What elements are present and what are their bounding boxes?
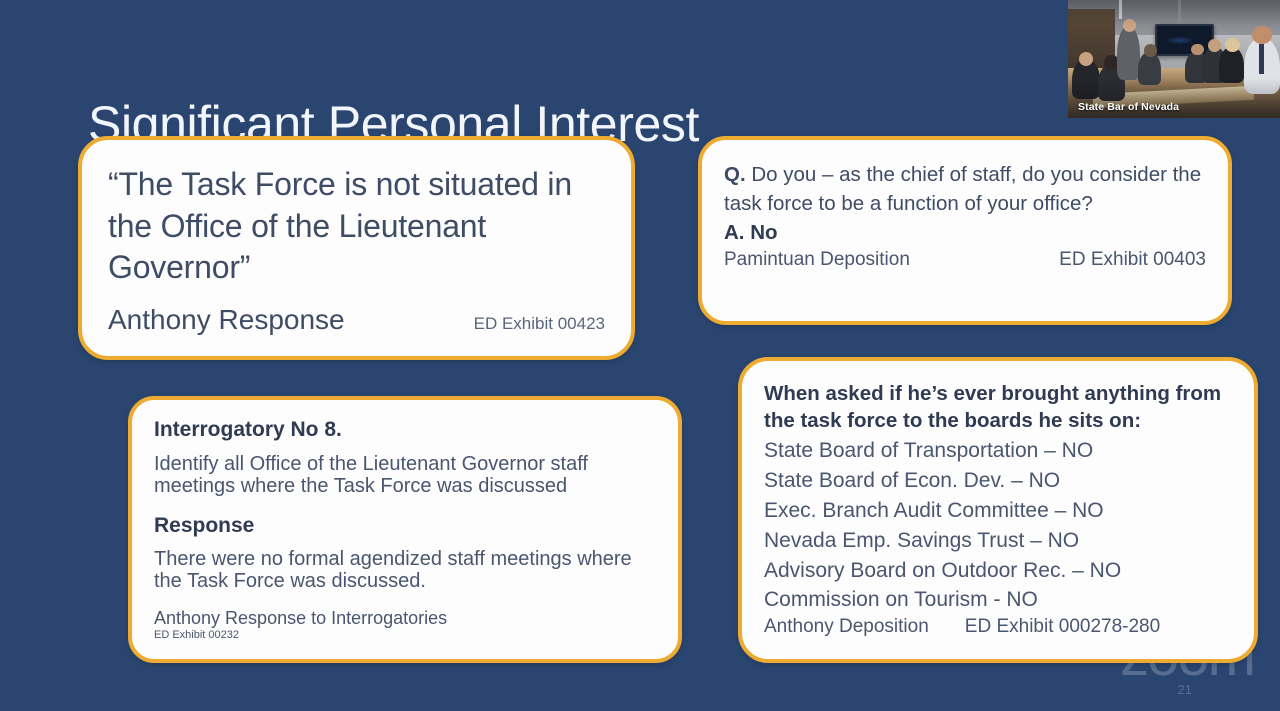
slide-page-number: 21 — [1178, 682, 1192, 697]
boards-card: When asked if he’s ever brought anything… — [738, 357, 1258, 663]
boards-source: Anthony Deposition — [764, 616, 929, 638]
boards-exhibit-ref: ED Exhibit 000278-280 — [965, 616, 1160, 638]
interrogatory-card: Interrogatory No 8. Identify all Office … — [128, 396, 682, 663]
qa-card-footer: Pamintuan Deposition ED Exhibit 00403 — [724, 249, 1206, 271]
quote-card-footer: Anthony Response ED Exhibit 00423 — [108, 304, 605, 336]
presentation-slide: zoom 21 Significant Personal Interest — [0, 0, 1280, 711]
quote-source: Anthony Response — [108, 304, 345, 336]
quote-text: “The Task Force is not situated in the O… — [108, 164, 605, 289]
qa-question-line: Q. Do you – as the chief of staff, do yo… — [724, 160, 1206, 218]
interrogatory-heading: Interrogatory No 8. — [154, 418, 656, 442]
interrogatory-body: Identify all Office of the Lieutenant Go… — [154, 453, 656, 498]
quote-card: “The Task Force is not situated in the O… — [78, 136, 635, 360]
video-thumbnail[interactable]: State Bar of Nevada — [1068, 0, 1280, 118]
qa-question-label: Q. — [724, 163, 746, 186]
interrogatory-exhibit-ref: ED Exhibit 00232 — [154, 629, 656, 641]
video-label: State Bar of Nevada — [1078, 101, 1179, 113]
qa-card: Q. Do you – as the chief of staff, do yo… — [698, 136, 1232, 325]
interrogatory-source: Anthony Response to Interrogatories — [154, 609, 656, 629]
qa-source: Pamintuan Deposition — [724, 249, 910, 271]
quote-exhibit-ref: ED Exhibit 00423 — [474, 314, 605, 334]
list-item: State Board of Econ. Dev. – NO — [764, 466, 1232, 496]
interrogatory-response-heading: Response — [154, 514, 656, 538]
qa-answer-line: A. No — [724, 218, 1206, 247]
boards-card-footer: Anthony Deposition ED Exhibit 000278-280 — [764, 616, 1232, 638]
boards-list: State Board of Transportation – NO State… — [764, 436, 1232, 615]
boards-heading: When asked if he’s ever brought anything… — [764, 381, 1232, 434]
interrogatory-response-body: There were no formal agendized staff mee… — [154, 548, 656, 593]
list-item: Exec. Branch Audit Committee – NO — [764, 496, 1232, 526]
list-item: State Board of Transportation – NO — [764, 436, 1232, 466]
list-item: Commission on Tourism - NO — [764, 585, 1232, 615]
list-item: Nevada Emp. Savings Trust – NO — [764, 526, 1232, 556]
list-item: Advisory Board on Outdoor Rec. – NO — [764, 556, 1232, 586]
qa-question-text: Do you – as the chief of staff, do you c… — [724, 163, 1201, 215]
qa-exhibit-ref: ED Exhibit 00403 — [1059, 249, 1206, 271]
